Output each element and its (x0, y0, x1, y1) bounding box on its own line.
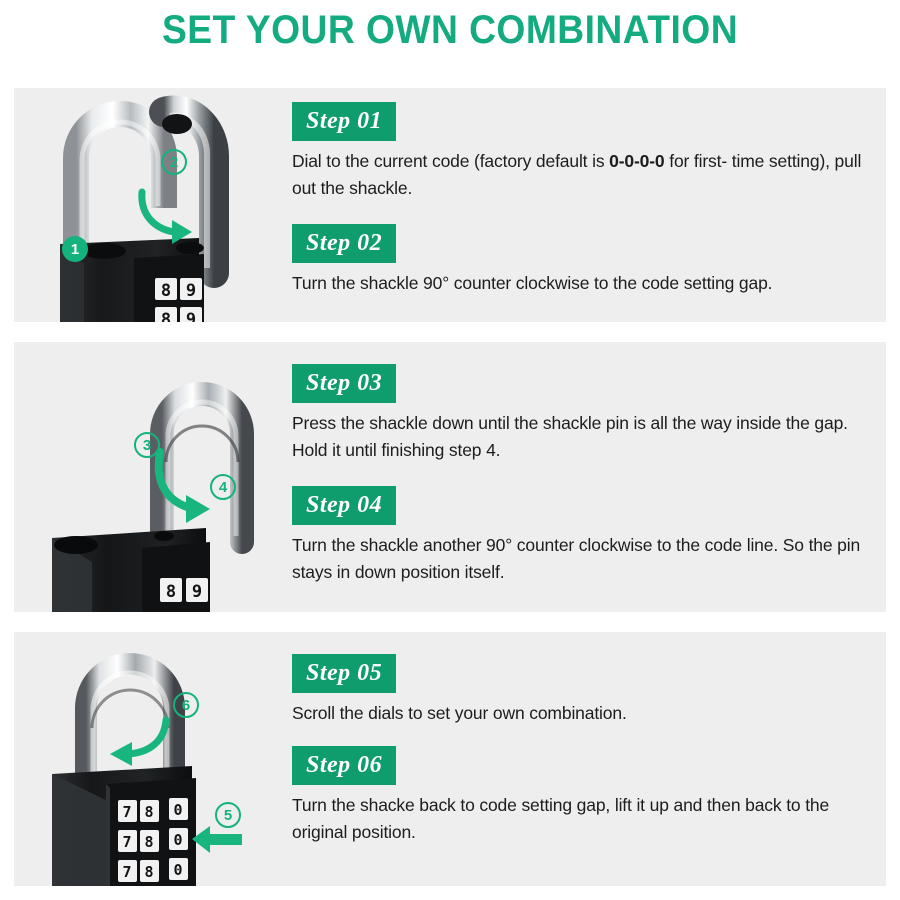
step-05-block: Step 05 Scroll the dials to set your own… (292, 654, 872, 727)
step-06-block: Step 06 Turn the shacke back to code set… (292, 746, 872, 846)
step-01-body: Dial to the current code (factory defaul… (292, 148, 872, 202)
marker-4: 4 (210, 474, 236, 500)
step-04-block: Step 04 Turn the shackle another 90° cou… (292, 486, 872, 586)
step-04-badge: Step 04 (292, 486, 396, 525)
step-02-badge: Step 02 (292, 224, 396, 263)
svg-text:8: 8 (161, 310, 171, 322)
svg-text:7: 7 (122, 833, 131, 851)
step-03-block: Step 03 Press the shackle down until the… (292, 364, 872, 464)
svg-text:8: 8 (144, 803, 153, 821)
step-05-badge: Step 05 (292, 654, 396, 693)
svg-text:9: 9 (186, 281, 196, 301)
svg-text:0: 0 (173, 831, 182, 849)
panel-1-text: Step 01 Dial to the current code (factor… (286, 88, 886, 322)
marker-2: 2 (161, 149, 187, 175)
step-06-badge: Step 06 (292, 746, 396, 785)
panel-3-text: Step 05 Scroll the dials to set your own… (286, 632, 886, 886)
step-01-block: Step 01 Dial to the current code (factor… (292, 102, 872, 202)
marker-5: 5 (215, 802, 241, 828)
svg-text:9: 9 (192, 582, 202, 602)
step-05-body: Scroll the dials to set your own combina… (292, 700, 872, 727)
svg-text:0: 0 (173, 861, 182, 879)
dial-row-3: 7 8 0 (118, 858, 188, 882)
marker-1: 1 (62, 236, 88, 262)
padlock-illustration-3: 7 8 0 7 8 0 7 8 0 (14, 632, 286, 886)
dial-row-2: 7 8 0 (118, 828, 188, 852)
step-panel-3: 7 8 0 7 8 0 7 8 0 (14, 632, 886, 886)
svg-text:8: 8 (161, 281, 171, 301)
marker-6: 6 (173, 692, 199, 718)
step-01-badge: Step 01 (292, 102, 396, 141)
padlock-image-2: 8 9 (14, 342, 286, 612)
step-03-body: Press the shackle down until the shackle… (292, 410, 872, 464)
svg-text:7: 7 (122, 803, 131, 821)
svg-text:9: 9 (186, 310, 196, 322)
svg-text:8: 8 (144, 833, 153, 851)
step-panel-2: 8 9 3 4 Step 03 Press the shackle down u… (14, 342, 886, 612)
dial-row-1: 7 8 0 (118, 798, 188, 822)
step-02-body: Turn the shackle 90° counter clockwise t… (292, 270, 872, 297)
padlock-image-1: 8 9 8 9 (14, 88, 286, 322)
step-02-block: Step 02 Turn the shackle 90° counter clo… (292, 224, 872, 297)
panel-2-text: Step 03 Press the shackle down until the… (286, 342, 886, 612)
svg-text:8: 8 (166, 582, 176, 602)
step-06-body: Turn the shacke back to code setting gap… (292, 792, 872, 846)
page-title: SET YOUR OWN COMBINATION (32, 8, 869, 53)
svg-text:7: 7 (122, 863, 131, 881)
svg-text:8: 8 (144, 863, 153, 881)
step-04-body: Turn the shackle another 90° counter clo… (292, 532, 872, 586)
curved-arrow-left-icon (110, 720, 166, 766)
padlock-image-3: 7 8 0 7 8 0 7 8 0 (14, 632, 286, 886)
padlock-illustration-2: 8 9 3 4 (14, 342, 286, 612)
step-01-default-code: 0-0-0-0 (609, 151, 664, 171)
straight-arrow-left-icon (192, 826, 242, 853)
padlock-illustration-1: 8 9 8 9 1 2 (14, 88, 286, 322)
step-01-body-prefix: Dial to the current code (factory defaul… (292, 151, 609, 171)
step-panel-1: 8 9 8 9 1 2 Step 01 Dial t (14, 88, 886, 322)
marker-3: 3 (134, 432, 160, 458)
step-03-badge: Step 03 (292, 364, 396, 403)
svg-text:0: 0 (173, 801, 182, 819)
